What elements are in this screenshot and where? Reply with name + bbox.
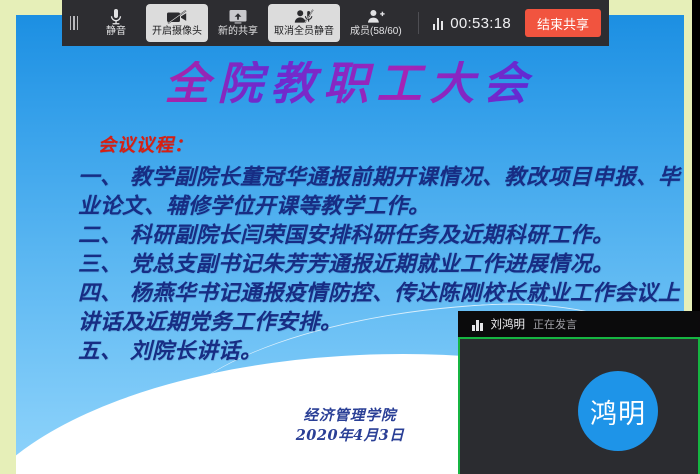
audio-bar — [472, 325, 475, 331]
audio-level-icon — [472, 318, 483, 331]
microphone-icon — [109, 8, 123, 25]
start-video-button-label: 开启摄像头 — [152, 26, 202, 37]
new-share-button-label: 新的共享 — [218, 26, 258, 37]
slide-title: 全院教职工大会 — [16, 61, 684, 106]
drag-handle-bar — [73, 16, 75, 30]
drag-handle-bar — [77, 16, 79, 30]
audio-bar — [480, 323, 483, 331]
audio-bar — [437, 18, 440, 30]
active-speaker-thumbnail[interactable]: 刘鸿明 正在发言 鸿明 — [458, 311, 700, 474]
audio-bar — [441, 21, 444, 30]
meeting-timer-group: 00:53:18 — [427, 15, 517, 32]
speaker-name: 刘鸿明 — [491, 316, 526, 332]
speaker-status: 正在发言 — [533, 316, 577, 332]
participants-button[interactable]: 成员(58/60) — [344, 4, 408, 42]
thumbnail-video-area[interactable]: 鸿明 — [458, 337, 700, 474]
meeting-toolbar: 静音 开启摄像头 新的共享 — [62, 0, 609, 46]
unmute-all-button[interactable]: 取消全员静音 — [268, 4, 340, 42]
start-video-button[interactable]: 开启摄像头 — [146, 4, 208, 42]
new-share-button[interactable]: 新的共享 — [212, 4, 264, 42]
toolbar-separator — [418, 12, 419, 34]
audio-level-icon — [433, 17, 444, 30]
thumbnail-header: 刘鸿明 正在发言 — [458, 311, 700, 337]
unmute-all-button-label: 取消全员静音 — [274, 26, 334, 37]
participants-icon — [367, 8, 385, 25]
audio-bar — [476, 320, 479, 331]
toolbar-drag-handle[interactable] — [66, 0, 82, 46]
agenda-heading: 会议议程： — [98, 131, 684, 157]
unmute-all-icon — [294, 8, 314, 25]
mute-button[interactable]: 静音 — [90, 4, 142, 42]
avatar: 鸿明 — [578, 371, 658, 451]
mute-button-label: 静音 — [106, 26, 126, 37]
meeting-screen-share-window: 全院教职工大会 会议议程： 一、 教学副院长董冠华通报前期开课情况、教改项目申报… — [0, 0, 700, 474]
drag-handle-bar — [70, 16, 72, 30]
share-screen-icon — [229, 8, 247, 25]
audio-bar — [433, 24, 436, 30]
camera-off-icon — [166, 8, 188, 25]
meeting-timer: 00:53:18 — [450, 15, 511, 32]
participants-button-label: 成员(58/60) — [350, 26, 402, 37]
end-share-button[interactable]: 结束共享 — [525, 9, 601, 37]
